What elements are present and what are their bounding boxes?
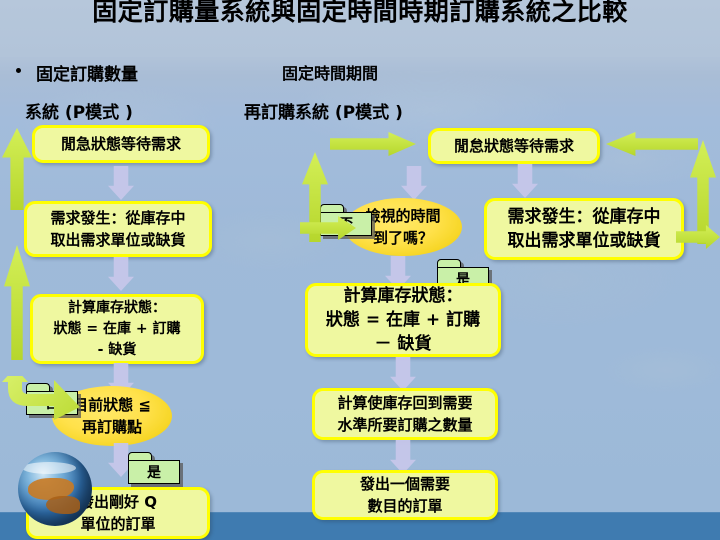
globe-landmass-2 (46, 496, 80, 514)
left-node-compute-status-line2: 狀態 = 在庫 + 訂購 (54, 319, 181, 340)
left-decision-line1: 目前狀態 ≦ (73, 394, 151, 416)
left-feedback-arrow-mid (4, 245, 30, 360)
header-right-top: 固定時間期間 (282, 60, 378, 84)
globe-cloud (22, 462, 76, 474)
globe-graphic (18, 452, 92, 526)
right-node-place-order-line2: 數目的訂單 (367, 495, 442, 517)
left-node-demand-line1: 需求發生：從庫存中 (50, 207, 185, 229)
right-node-idle[interactable]: 閒怠狀態等待需求 (428, 128, 600, 164)
right-node-compute-quantity[interactable]: 計算使庫存回到需要 水準所要訂購之數量 (312, 388, 498, 440)
right-node-compute-status-line3: － 缺貨 (375, 332, 432, 356)
left-node-place-order-line2: 單位的訂單 (80, 513, 155, 535)
left-flag-yes-label: 是 (128, 460, 180, 484)
right-node-compute-status-line2: 狀態 = 在庫 + 訂購 (326, 308, 480, 332)
connector-left-1 (108, 166, 134, 200)
header-left-sub: 系統 (P模式 ) (25, 98, 133, 123)
bullet-marker-icon (16, 68, 21, 73)
left-node-demand[interactable]: 需求發生：從庫存中 取出需求單位或缺貨 (24, 201, 212, 257)
right-node-demand-line1: 需求發生：從庫存中 (508, 205, 661, 229)
left-flag-yes[interactable]: 是 (128, 452, 180, 484)
connector-right-3 (390, 357, 416, 391)
connector-right-4 (390, 440, 416, 474)
right-node-demand-line2: 取出需求單位或缺貨 (508, 229, 661, 253)
connector-left-2 (108, 257, 134, 291)
left-node-idle[interactable]: 閒急狀態等待需求 (32, 125, 210, 163)
right-arrow-up-far (690, 140, 716, 244)
left-node-demand-line2: 取出需求單位或缺貨 (50, 229, 185, 251)
right-node-demand[interactable]: 需求發生：從庫存中 取出需求單位或缺貨 (484, 198, 684, 260)
left-node-compute-status-line3: - 缺貨 (98, 340, 137, 361)
right-decision-line1: 檢視的時間 (365, 205, 440, 227)
left-node-compute-status[interactable]: 計算庫存狀態： 狀態 = 在庫 + 訂購 - 缺貨 (30, 294, 204, 364)
right-node-compute-status-line1: 計算庫存狀態： (344, 284, 463, 308)
right-decision-line2: 到了嗎？ (373, 227, 433, 249)
connector-right-5 (512, 164, 538, 198)
connector-right-1 (401, 166, 427, 200)
left-feedback-arrow-top (2, 128, 32, 210)
header-left-top: 固定訂購數量 (36, 60, 138, 85)
right-node-place-order[interactable]: 發出一個需要 數目的訂單 (312, 470, 498, 520)
right-node-compute-quantity-line2: 水準所要訂購之數量 (337, 414, 472, 436)
right-node-place-order-line1: 發出一個需要 (360, 473, 450, 495)
header-right-sub: 再訂購系統 (P模式 ) (244, 98, 403, 123)
slide-canvas: 固定訂購量系統與固定時間時期訂購系統之比較 固定訂購數量 固定時間期間 系統 (… (0, 0, 720, 540)
right-arrow-into-idle-right (606, 132, 698, 156)
right-node-compute-status[interactable]: 計算庫存狀態： 狀態 = 在庫 + 訂購 － 缺貨 (305, 283, 501, 357)
page-title: 固定訂購量系統與固定時間時期訂購系統之比較 (20, 0, 700, 27)
left-node-compute-status-line1: 計算庫存狀態： (68, 298, 166, 319)
left-decision-line2: 再訂購點 (82, 416, 142, 438)
right-arrow-into-idle-left (330, 132, 416, 156)
right-node-compute-quantity-line1: 計算使庫存回到需要 (337, 392, 472, 414)
right-node-idle-label: 閒怠狀態等待需求 (454, 135, 574, 157)
left-node-idle-label: 閒急狀態等待需求 (61, 133, 181, 155)
